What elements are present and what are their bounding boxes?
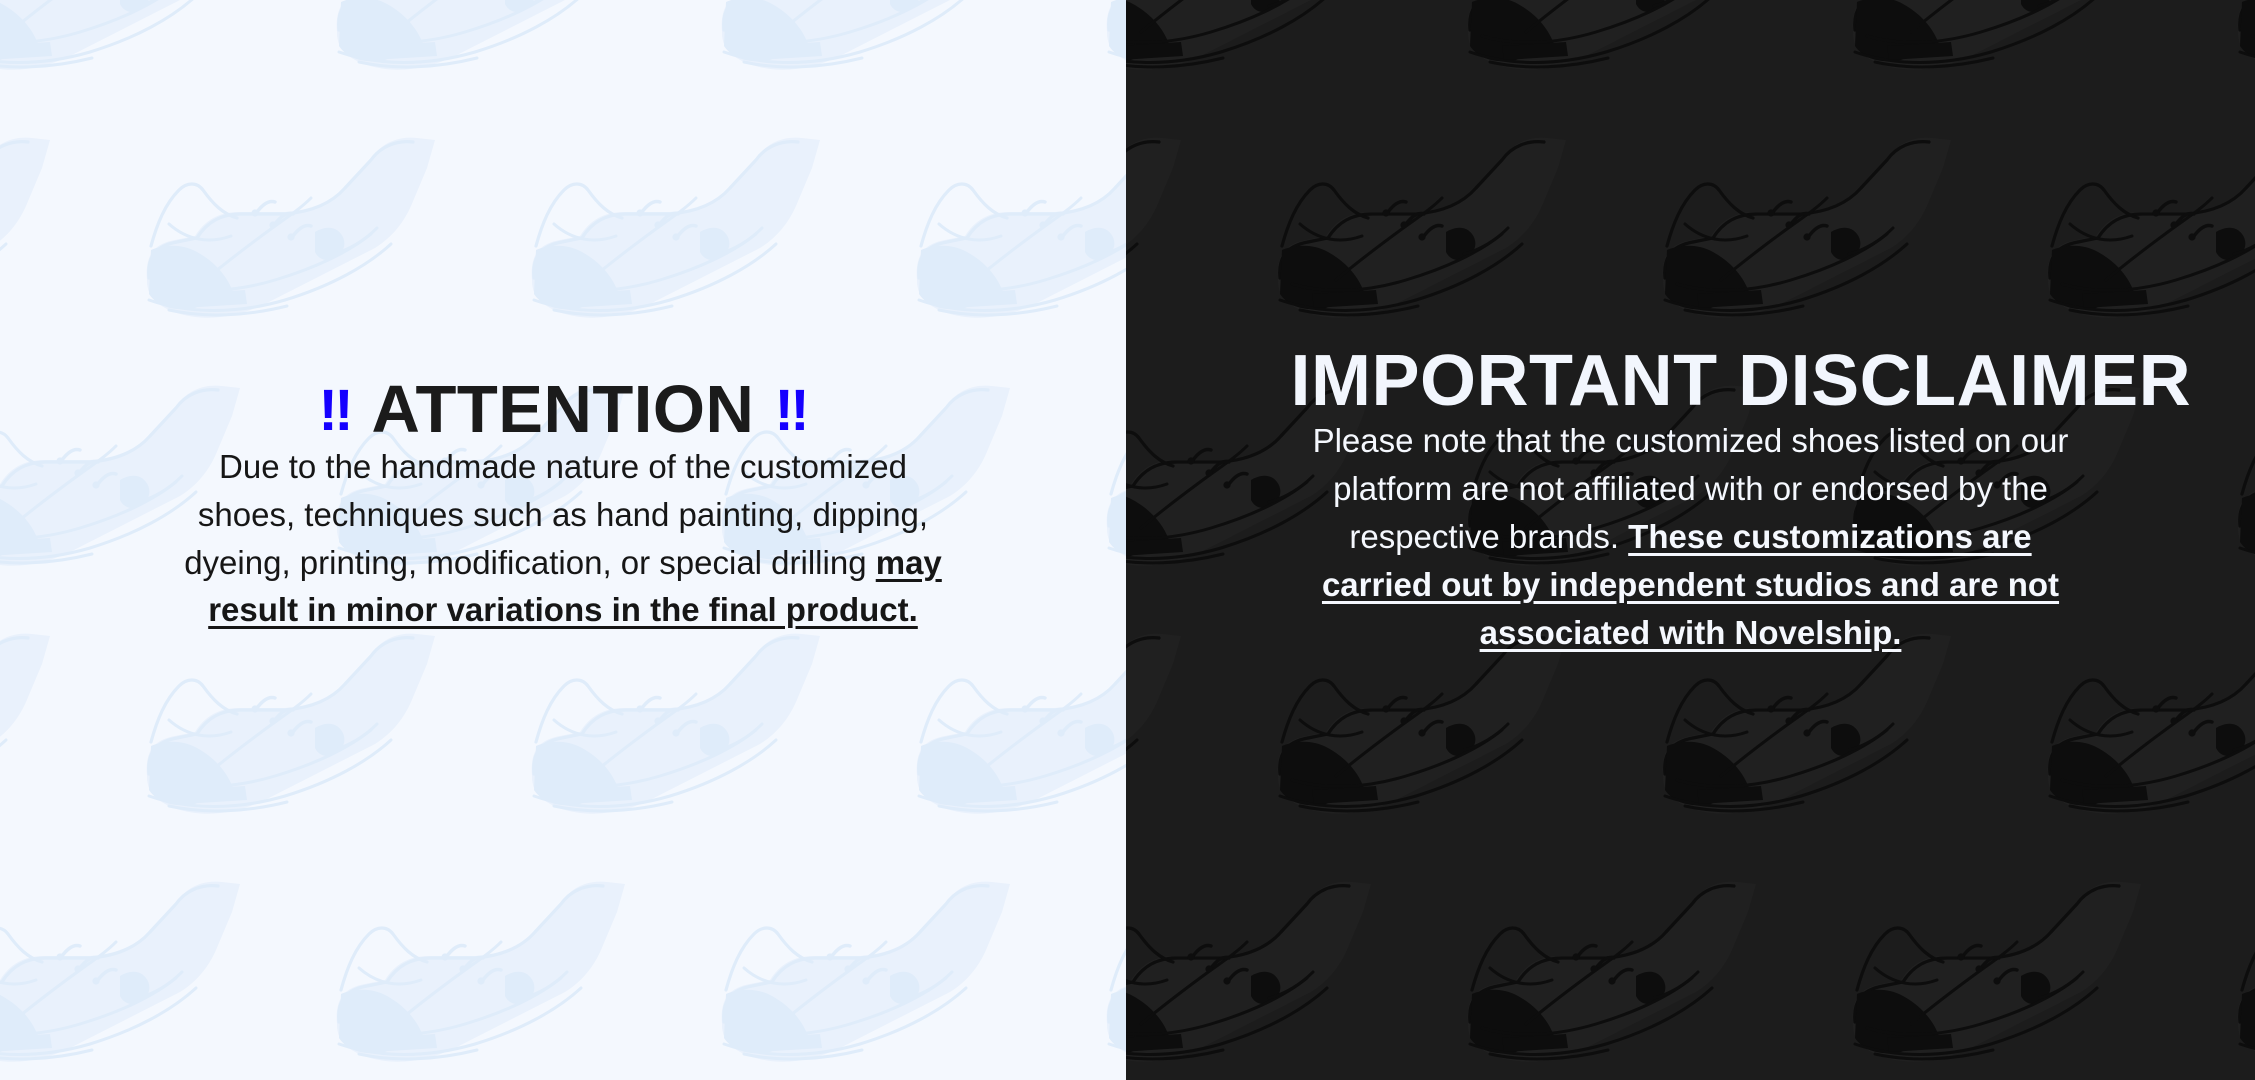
attention-content: ‼ATTENTION‼ Due to the handmade nature o…: [0, 0, 1126, 1080]
attention-body-normal: Due to the handmade nature of the custom…: [184, 448, 928, 581]
disclaimer-heading: IMPORTANT DISCLAIMER: [1291, 345, 2091, 417]
disclaimer-panel: IMPORTANT DISCLAIMER Please note that th…: [1126, 0, 2255, 1080]
double-exclamation-icon-right: ‼: [774, 378, 807, 443]
attention-panel: ‼ATTENTION‼ Due to the handmade nature o…: [0, 0, 1126, 1080]
disclaimer-content: IMPORTANT DISCLAIMER Please note that th…: [1126, 0, 2255, 1080]
attention-heading-text: ATTENTION: [372, 372, 755, 447]
disclaimer-body: Please note that the customized shoes li…: [1291, 417, 2091, 656]
double-exclamation-icon-left: ‼: [319, 378, 352, 443]
attention-heading: ‼ATTENTION‼: [173, 376, 953, 443]
attention-body: Due to the handmade nature of the custom…: [173, 443, 953, 634]
dual-panel-banner: ‼ATTENTION‼ Due to the handmade nature o…: [0, 0, 2255, 1080]
